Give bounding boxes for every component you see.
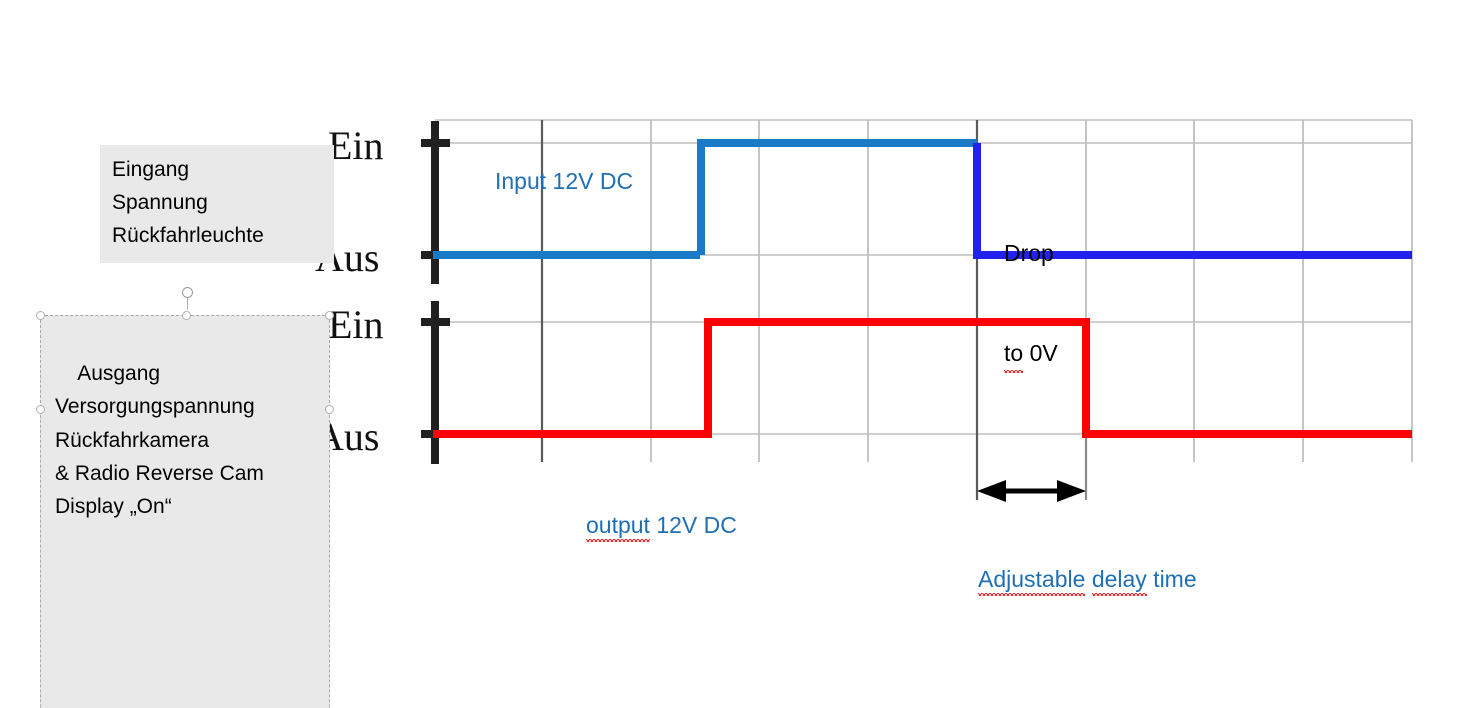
resize-handle-top-left[interactable]	[36, 311, 45, 320]
drop-annotation-line1: Drop	[1004, 237, 1058, 270]
output-annotation-misspelled-word: output	[586, 512, 650, 539]
drop-annotation-misspelled-word: to	[1004, 337, 1023, 370]
drop-annotation-voltage: 0V	[1023, 340, 1058, 366]
input-axis	[421, 121, 450, 284]
output-annotation-rest: 12V DC	[650, 512, 737, 538]
resize-handle-middle-left[interactable]	[36, 405, 45, 414]
adjustable-delay-annotation: Adjustable delay time	[978, 566, 1197, 593]
delay-annotation-word-time: time	[1147, 566, 1197, 592]
delay-annotation-word-delay: delay	[1092, 566, 1147, 593]
input-waveform-pulse	[701, 143, 977, 255]
rotate-handle-stem	[187, 298, 188, 310]
input-axis-high-label: Ein	[328, 122, 384, 169]
rotate-handle[interactable]	[182, 287, 193, 298]
output-description-box[interactable]: Ausgang Versorgungspannung Rückfahrkamer…	[40, 315, 330, 708]
output-waveform	[433, 322, 1412, 434]
drop-annotation-line2: to 0V	[1004, 337, 1058, 370]
timing-diagram-canvas: Ein Aus Ein Aus Eingang Spannung Rückfah…	[0, 0, 1462, 708]
output-description-text: Ausgang Versorgungspannung Rückfahrkamer…	[55, 362, 264, 518]
resize-handle-middle-right[interactable]	[325, 405, 334, 414]
adjustable-delay-arrow	[977, 480, 1086, 502]
input-signal-annotation: Input 12V DC	[495, 168, 633, 195]
resize-handle-top-right[interactable]	[325, 311, 334, 320]
resize-handle-top-center[interactable]	[182, 311, 191, 320]
output-axis	[421, 301, 450, 464]
delay-annotation-word-adjustable: Adjustable	[978, 566, 1085, 593]
output-axis-high-label: Ein	[328, 301, 384, 348]
drop-to-zero-annotation: Drop to 0V	[1004, 170, 1058, 437]
output-signal-annotation: output 12V DC	[586, 512, 737, 539]
input-description-box[interactable]: Eingang Spannung Rückfahrleuchte	[100, 145, 334, 263]
